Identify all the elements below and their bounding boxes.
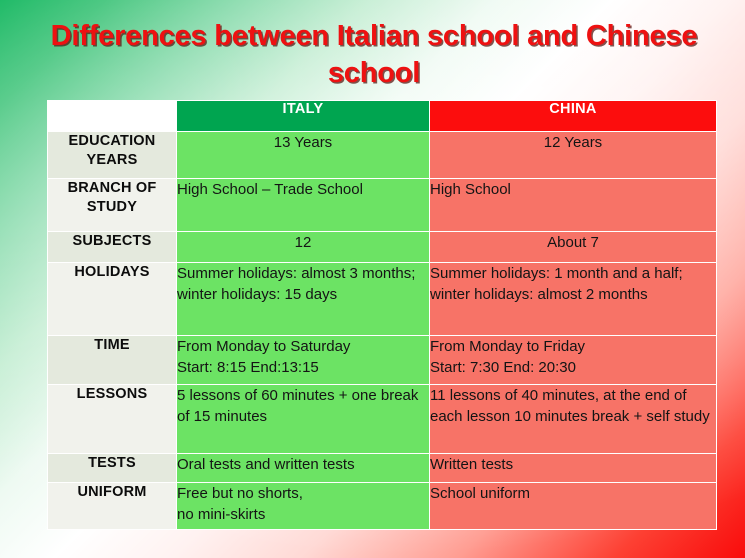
table-row: LESSONS 5 lessons of 60 minutes + one br… [48, 385, 717, 454]
slide-canvas: Differences between Italian school and C… [0, 0, 745, 558]
cell-italy-uniform-line-2: no mini-skirts [177, 504, 429, 525]
cell-china-time-line-1: From Monday to Friday [430, 336, 716, 357]
cell-china-branch-of-study: High School [430, 179, 717, 232]
row-label-line-1: SUBJECTS [48, 232, 176, 251]
cell-china-time-line-2: Start: 7:30 End: 20:30 [430, 357, 716, 378]
cell-italy-time-line-2: Start: 8:15 End:13:15 [177, 357, 429, 378]
cell-china-lessons: 11 lessons of 40 minutes, at the end of … [430, 385, 717, 454]
cell-china-uniform: School uniform [430, 483, 717, 530]
table-row: TIME From Monday to Saturday Start: 8:15… [48, 336, 717, 385]
cell-italy-tests: Oral tests and written tests [177, 454, 430, 483]
cell-china-tests: Written tests [430, 454, 717, 483]
row-label-uniform: UNIFORM [48, 483, 177, 530]
header-cell-italy: ITALY [177, 101, 430, 132]
row-label-line-1: TIME [48, 336, 176, 355]
row-label-subjects: SUBJECTS [48, 232, 177, 263]
cell-china-time: From Monday to Friday Start: 7:30 End: 2… [430, 336, 717, 385]
row-label-line-1: EDUCATION [48, 132, 176, 151]
cell-china-holidays: Summer holidays: 1 month and a half; win… [430, 263, 717, 336]
row-label-line-2: STUDY [48, 198, 176, 217]
row-label-line-1: LESSONS [48, 385, 176, 404]
cell-italy-uniform-line-1: Free but no shorts, [177, 483, 429, 504]
row-label-line-1: TESTS [48, 454, 176, 473]
cell-china-education-years: 12 Years [430, 132, 717, 179]
cell-italy-lessons: 5 lessons of 60 minutes + one break of 1… [177, 385, 430, 454]
row-label-line-1: HOLIDAYS [48, 263, 176, 282]
header-blank-cell [48, 101, 177, 132]
table-row: UNIFORM Free but no shorts, no mini-skir… [48, 483, 717, 530]
row-label-education-years: EDUCATION YEARS [48, 132, 177, 179]
table-header-row: ITALY CHINA [48, 101, 717, 132]
cell-china-subjects: About 7 [430, 232, 717, 263]
row-label-time: TIME [48, 336, 177, 385]
row-label-branch-of-study: BRANCH OF STUDY [48, 179, 177, 232]
row-label-lessons: LESSONS [48, 385, 177, 454]
cell-italy-time: From Monday to Saturday Start: 8:15 End:… [177, 336, 430, 385]
cell-italy-subjects: 12 [177, 232, 430, 263]
table-row: EDUCATION YEARS 13 Years 12 Years [48, 132, 717, 179]
cell-italy-branch-of-study: High School – Trade School [177, 179, 430, 232]
table-row: SUBJECTS 12 About 7 [48, 232, 717, 263]
page-title: Differences between Italian school and C… [40, 18, 708, 92]
header-cell-china: CHINA [430, 101, 717, 132]
table-row: BRANCH OF STUDY High School – Trade Scho… [48, 179, 717, 232]
cell-italy-time-line-1: From Monday to Saturday [177, 336, 429, 357]
table-row: TESTS Oral tests and written tests Writt… [48, 454, 717, 483]
cell-italy-education-years: 13 Years [177, 132, 430, 179]
row-label-line-2: YEARS [48, 151, 176, 170]
row-label-tests: TESTS [48, 454, 177, 483]
cell-italy-uniform: Free but no shorts, no mini-skirts [177, 483, 430, 530]
row-label-holidays: HOLIDAYS [48, 263, 177, 336]
table-row: HOLIDAYS Summer holidays: almost 3 month… [48, 263, 717, 336]
row-label-line-1: UNIFORM [48, 483, 176, 502]
cell-italy-holidays: Summer holidays: almost 3 months; winter… [177, 263, 430, 336]
row-label-line-1: BRANCH OF [48, 179, 176, 198]
comparison-table: ITALY CHINA EDUCATION YEARS 13 Years 12 … [47, 100, 717, 530]
